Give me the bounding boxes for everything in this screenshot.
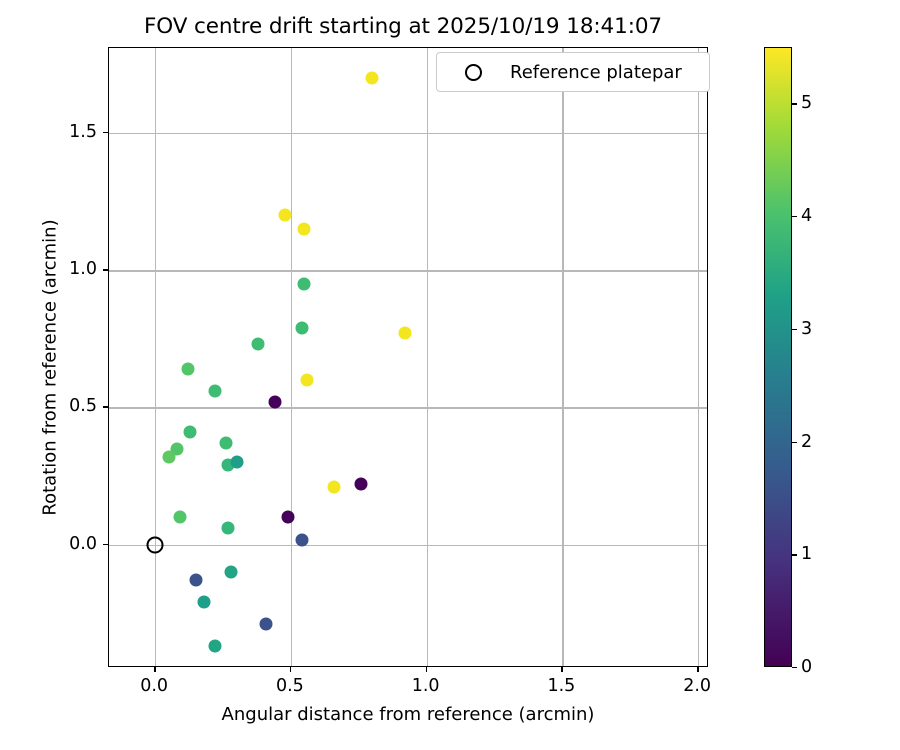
scatter-point [268, 395, 281, 408]
chart-figure: FOV centre drift starting at 2025/10/19 … [0, 0, 900, 750]
colorbar-tick [792, 216, 797, 217]
gridline-horizontal [109, 407, 707, 408]
scatter-point [298, 277, 311, 290]
scatter-point [366, 72, 379, 85]
gridline-horizontal [109, 133, 707, 134]
colorbar-tick-label: 1 [801, 544, 812, 564]
x-axis-tick-label: 0.5 [276, 676, 304, 696]
colorbar-tick [792, 554, 797, 555]
y-axis-tick-label: 0.0 [69, 534, 97, 554]
y-axis-tick [103, 406, 108, 407]
gridline-vertical [562, 48, 563, 666]
scatter-point [225, 565, 238, 578]
x-axis-tick-label: 1.5 [547, 676, 575, 696]
legend-entry-label: Reference platepar [510, 62, 682, 83]
scatter-point [398, 327, 411, 340]
x-axis-tick [426, 667, 427, 672]
colorbar-tick-label: 5 [801, 93, 812, 113]
scatter-point [184, 426, 197, 439]
x-axis-tick [561, 667, 562, 672]
scatter-point [222, 522, 235, 535]
x-axis-tick-label: 2.0 [683, 676, 711, 696]
gridline-vertical [291, 48, 292, 666]
colorbar-tick [792, 442, 797, 443]
scatter-point [260, 618, 273, 631]
gridline-vertical [155, 48, 156, 666]
chart-title: FOV centre drift starting at 2025/10/19 … [0, 14, 806, 39]
y-axis-label: Rotation from reference (arcmin) [40, 58, 61, 678]
scatter-point [208, 640, 221, 653]
y-axis-tick [103, 269, 108, 270]
colorbar: 012345 [764, 47, 792, 667]
colorbar-tick [792, 103, 797, 104]
colorbar-tick [792, 667, 797, 668]
gridline-vertical [698, 48, 699, 666]
colorbar-gradient [764, 47, 792, 667]
scatter-point [208, 384, 221, 397]
scatter-point [355, 478, 368, 491]
y-axis-tick [103, 132, 108, 133]
scatter-point [198, 596, 211, 609]
scatter-point [328, 480, 341, 493]
scatter-point [298, 223, 311, 236]
x-axis-tick-label: 1.0 [412, 676, 440, 696]
scatter-point [173, 511, 186, 524]
x-axis-tick [154, 667, 155, 672]
gridline-horizontal [109, 545, 707, 546]
scatter-point [189, 574, 202, 587]
reference-platepar-marker-icon [465, 64, 482, 81]
scatter-point [301, 373, 314, 386]
scatter-point [279, 209, 292, 222]
scatter-point [219, 437, 232, 450]
plot-area [108, 47, 708, 667]
colorbar-tick-label: 4 [801, 206, 812, 226]
scatter-point [295, 534, 308, 547]
y-axis-tick [103, 544, 108, 545]
x-axis-tick [697, 667, 698, 672]
x-axis-label: Angular distance from reference (arcmin) [108, 704, 708, 725]
legend: Reference platepar [436, 52, 710, 92]
y-axis-tick-label: 1.0 [69, 259, 97, 279]
scatter-point [162, 450, 175, 463]
scatter-point [295, 321, 308, 334]
colorbar-tick-label: 2 [801, 432, 812, 452]
gridline-horizontal [109, 270, 707, 271]
scatter-point [181, 362, 194, 375]
colorbar-tick-label: 0 [801, 657, 812, 677]
reference-platepar-point [147, 536, 164, 553]
colorbar-tick-label: 3 [801, 319, 812, 339]
scatter-point [282, 511, 295, 524]
x-axis-tick-label: 0.0 [140, 676, 168, 696]
y-axis-tick-label: 1.5 [69, 122, 97, 142]
scatter-point [252, 338, 265, 351]
gridline-vertical [427, 48, 428, 666]
y-axis-tick-label: 0.5 [69, 396, 97, 416]
colorbar-tick [792, 329, 797, 330]
scatter-point [230, 456, 243, 469]
x-axis-tick [290, 667, 291, 672]
